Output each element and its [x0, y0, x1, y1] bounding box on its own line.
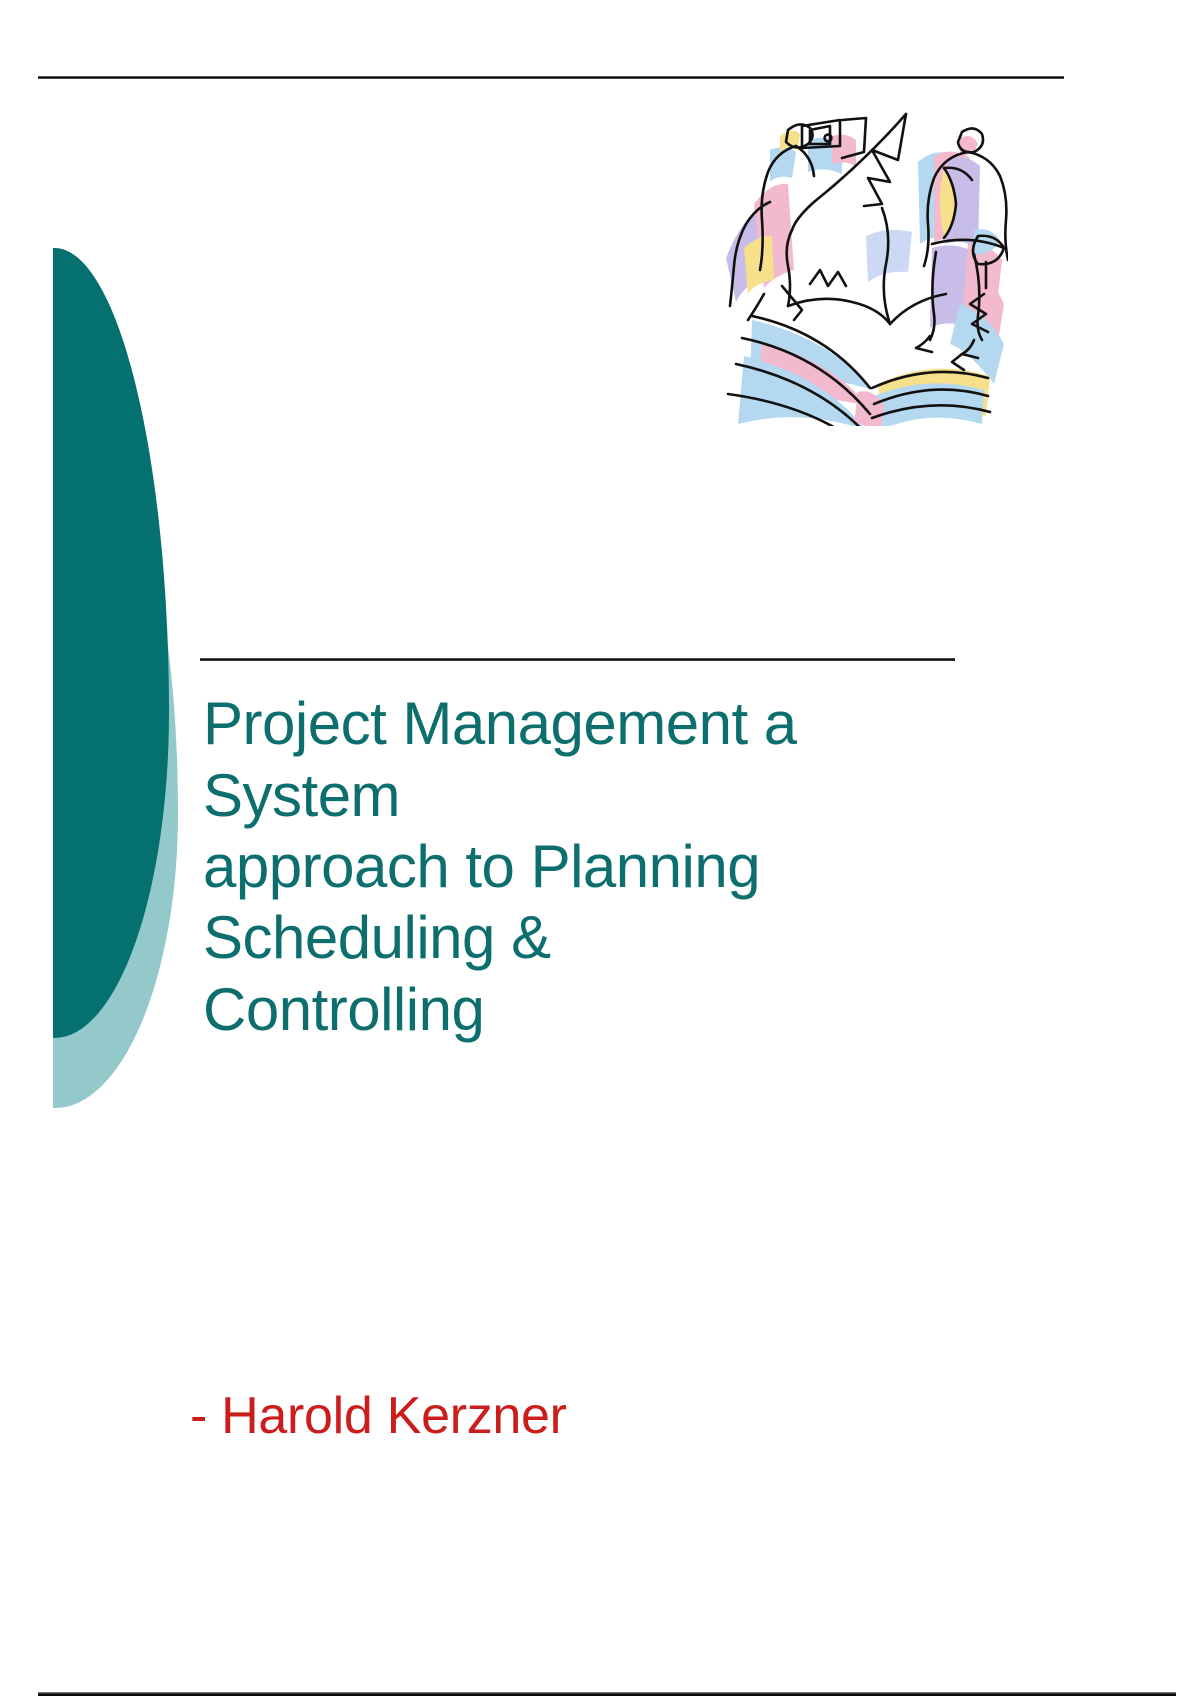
top-divider-rule: [38, 76, 1064, 79]
open-book-with-business-people-clipart-icon: [692, 108, 1008, 426]
slide-page: Project Management a System approach to …: [0, 0, 1200, 1700]
title-divider-rule: [200, 658, 955, 661]
bottom-divider-rule: [38, 1692, 1176, 1696]
author-byline: - Harold Kerzner: [190, 1388, 567, 1445]
page-title: Project Management a System approach to …: [203, 688, 993, 1045]
